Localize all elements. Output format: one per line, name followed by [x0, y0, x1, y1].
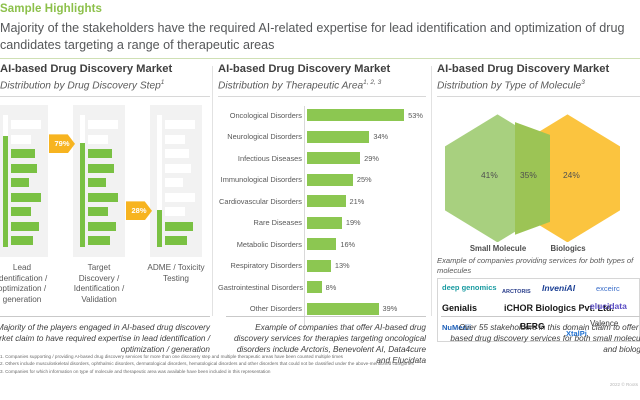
mini-bar-segment: [11, 178, 29, 187]
mini-bar-segment: [88, 236, 110, 245]
mini-axis-fill: [157, 210, 162, 247]
bar-track: 19%: [307, 212, 426, 234]
bar-fill: [307, 303, 379, 315]
mini-bar-segment: [165, 207, 185, 216]
bar-value-label: 19%: [346, 218, 361, 227]
bar-category-label: Immunological Disorders: [218, 175, 307, 184]
mini-axis-fill: [80, 143, 85, 247]
bar-value-label: 8%: [326, 283, 337, 292]
takeaway-rule-2: [226, 316, 426, 317]
bar-track: 25%: [307, 169, 426, 191]
panel-1-title: AI-based Drug Discovery Market: [0, 63, 210, 76]
venn-overlap-percent: 35%: [520, 170, 537, 180]
bar-value-label: 39%: [383, 304, 398, 313]
bar-fill: [307, 131, 369, 143]
bar-row: Neurological Disorders34%: [218, 126, 426, 148]
mini-bar-segment: [11, 120, 41, 129]
bar-fill: [307, 281, 322, 293]
panel-2-rule: [218, 96, 426, 97]
copyright-label: 2022 © Roots: [610, 382, 638, 387]
company-logo: Genialis: [442, 303, 477, 313]
panel-2-subtitle-superscript: 1, 2, 3: [363, 79, 381, 86]
mini-axis-fill: [3, 136, 8, 247]
kicker-label: Sample Highlights: [0, 0, 640, 15]
panel-therapeutic-area: AI-based Drug Discovery Market Distribut…: [218, 63, 426, 319]
takeaway-rule-3: [441, 316, 640, 317]
company-logo: ARCTORIS: [502, 289, 531, 295]
company-logo: deep genomics: [442, 283, 497, 292]
bar-track: 8%: [307, 276, 426, 298]
column-card: 84%: [0, 105, 48, 257]
bar-row: Rare Diseases19%: [218, 212, 426, 234]
mini-bar-segment: [11, 164, 37, 173]
bar-fill: [307, 195, 346, 207]
bar-value-label: 21%: [350, 197, 365, 206]
bar-track: 13%: [307, 255, 426, 277]
takeaway-text-1: Majority of the players engaged in AI-ba…: [0, 322, 210, 355]
mini-bar-icon: [157, 115, 195, 247]
venn-right-label: Biologics: [532, 244, 604, 253]
panel-type-of-molecule: AI-based Drug Discovery Market Distribut…: [437, 63, 640, 342]
bar-track: 53%: [307, 104, 426, 126]
panel-3-title: AI-based Drug Discovery Market: [437, 63, 640, 76]
company-logo: elucidata: [590, 301, 627, 311]
bar-category-label: Infectious Diseases: [218, 154, 307, 163]
bar-row: Infectious Diseases29%: [218, 147, 426, 169]
bar-value-label: 53%: [408, 111, 423, 120]
mini-bar-segment: [165, 120, 195, 129]
bar-row: Oncological Disorders53%: [218, 104, 426, 126]
bar-row: Immunological Disorders25%: [218, 169, 426, 191]
bar-category-label: Metabolic Disorders: [218, 240, 307, 249]
step-column-chart: 84%Lead Identification / optimization / …: [0, 105, 210, 280]
panel-1-subtitle-superscript: 1: [161, 79, 165, 86]
percent-badge: 28%: [126, 201, 152, 220]
mini-bar-segment: [88, 135, 108, 144]
mini-bar-segment: [88, 193, 118, 202]
mini-bar-segment: [165, 178, 183, 187]
discovery-step-column: 28%ADME / Toxicity Testing: [150, 105, 202, 284]
bar-track: 34%: [307, 126, 426, 148]
bar-track: 29%: [307, 147, 426, 169]
bar-fill: [307, 152, 360, 164]
slide-header: Sample Highlights Majority of the stakeh…: [0, 0, 640, 53]
bar-value-label: 13%: [335, 261, 350, 270]
mini-bar-segment: [88, 120, 118, 129]
panel-3-subtitle-superscript: 3: [581, 79, 585, 86]
takeaway-text-3: Over 55 stakeholders in this domain clai…: [441, 322, 640, 355]
percent-badge: 79%: [49, 134, 75, 153]
bar-value-label: 34%: [373, 132, 388, 141]
panel-3-subtitle: Distribution by Type of Molecule3: [437, 77, 640, 92]
mini-bar-segment: [88, 164, 114, 173]
logo-box-caption: Example of companies providing services …: [437, 256, 640, 275]
therapeutic-area-bar-chart: Oncological Disorders53%Neurological Dis…: [218, 104, 426, 319]
mini-bar-segment: [11, 236, 33, 245]
bar-value-label: 29%: [364, 154, 379, 163]
bar-value-label: 16%: [340, 240, 355, 249]
bar-track: 21%: [307, 190, 426, 212]
company-logo: InveniAI: [542, 283, 575, 293]
bar-category-label: Oncological Disorders: [218, 111, 307, 120]
header-divider: [0, 58, 640, 59]
mini-bar-segment: [11, 135, 31, 144]
bar-row: Cardiovascular Disorders21%: [218, 190, 426, 212]
bar-row: Metabolic Disorders16%: [218, 233, 426, 255]
bar-fill: [307, 238, 336, 250]
footnote-line: 1. Companies supporting / providing AI-b…: [0, 353, 640, 360]
panel-3-subtitle-text: Distribution by Type of Molecule: [437, 80, 581, 91]
panel-3-rule: [437, 96, 640, 97]
panel-2-title: AI-based Drug Discovery Market: [218, 63, 426, 76]
mini-bar-segment: [88, 149, 112, 158]
mini-bar-segment: [165, 164, 191, 173]
bar-category-label: Neurological Disorders: [218, 132, 307, 141]
column-label: ADME / Toxicity Testing: [146, 263, 206, 284]
column-label: Lead Identification / optimization / gen…: [0, 263, 52, 305]
bar-fill: [307, 109, 404, 121]
page-title: Majority of the stakeholders have the re…: [0, 15, 640, 53]
panel-1-subtitle-text: Distribution by Drug Discovery Step: [0, 80, 161, 91]
mini-bar-icon: [3, 115, 41, 247]
bar-value-label: 25%: [357, 175, 372, 184]
bar-track: 16%: [307, 233, 426, 255]
company-logo: exceirc: [596, 284, 620, 293]
venn-right-percent: 24%: [563, 170, 580, 180]
bar-fill: [307, 174, 353, 186]
mini-bar-segment: [165, 222, 193, 231]
molecule-venn-diagram: 41% 35% 24% Small Molecule Biologics: [437, 104, 640, 254]
bar-row: Respiratory Disorders13%: [218, 255, 426, 277]
column-card: 28%: [150, 105, 202, 257]
panel-1-subtitle: Distribution by Drug Discovery Step1: [0, 77, 210, 92]
bar-category-label: Other Disorders: [218, 304, 307, 313]
panel-drug-discovery-step: AI-based Drug Discovery Market Distribut…: [0, 63, 210, 280]
footnote-line: 3. Companies for which information on ty…: [0, 368, 640, 375]
panel-divider-1: [212, 66, 213, 316]
bar-category-label: Rare Diseases: [218, 218, 307, 227]
mini-bar-segment: [88, 178, 106, 187]
bar-chart-axis: [304, 106, 305, 328]
bar-category-label: Respiratory Disorders: [218, 261, 307, 270]
mini-bar-segment: [11, 193, 41, 202]
panel-2-subtitle: Distribution by Therapeutic Area1, 2, 3: [218, 77, 426, 92]
bar-category-label: Cardiovascular Disorders: [218, 197, 307, 206]
bar-category-label: Gastrointestinal Disorders: [218, 283, 307, 292]
venn-left-percent: 41%: [481, 170, 498, 180]
column-label: Target Discovery / Identification / Vali…: [69, 263, 129, 305]
discovery-step-column: 79%Target Discovery / Identification / V…: [73, 105, 125, 305]
mini-bar-segment: [11, 149, 35, 158]
mini-bar-icon: [80, 115, 118, 247]
mini-bar-segment: [88, 222, 116, 231]
mini-bar-segment: [165, 193, 195, 202]
venn-left-label: Small Molecule: [453, 244, 543, 253]
mini-bar-segment: [165, 149, 189, 158]
footnote-line: 2. Others include musculoskeletal disord…: [0, 360, 640, 367]
panel-1-rule: [0, 96, 210, 97]
mini-bar-segment: [165, 135, 185, 144]
mini-bar-segment: [11, 222, 39, 231]
bar-row: Gastrointestinal Disorders8%: [218, 276, 426, 298]
footnotes-block: 1. Companies supporting / providing AI-b…: [0, 353, 640, 375]
mini-bar-segment: [165, 236, 187, 245]
bar-fill: [307, 217, 342, 229]
mini-bar-segment: [88, 207, 108, 216]
panel-2-subtitle-text: Distribution by Therapeutic Area: [218, 80, 363, 91]
mini-bar-segment: [11, 207, 31, 216]
bar-fill: [307, 260, 331, 272]
takeaway-rule-1: [0, 316, 210, 317]
panel-divider-2: [431, 66, 432, 316]
column-card: 79%: [73, 105, 125, 257]
discovery-step-column: 84%Lead Identification / optimization / …: [0, 105, 48, 305]
